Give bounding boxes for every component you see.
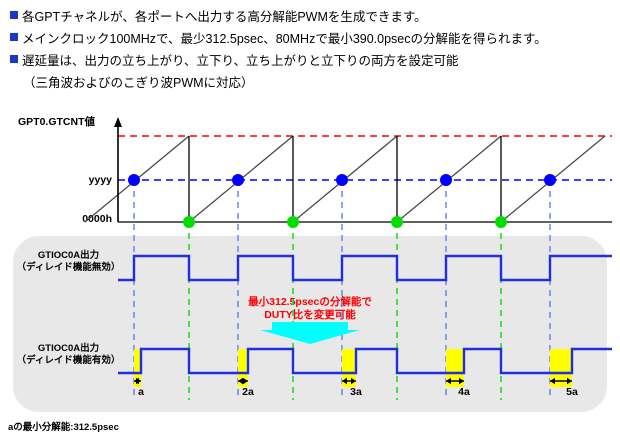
waveform-delay-enabled (118, 349, 612, 373)
waveform-delay-disabled (118, 256, 612, 280)
period-match-marker (391, 216, 403, 228)
period-match-marker (495, 216, 507, 228)
compare-match-marker (544, 174, 556, 186)
period-match-marker (183, 216, 195, 228)
callout-down-arrow-icon (260, 322, 360, 344)
period-match-marker (287, 216, 299, 228)
y-axis-arrow-icon (114, 117, 122, 127)
diagram-vector-layer (0, 0, 620, 441)
compare-match-marker (128, 174, 140, 186)
compare-match-marker (232, 174, 244, 186)
slide-root: 各GPTチャネルが、各ポートへ出力する高分解能PWMを生成できます。 メインクロ… (0, 0, 620, 441)
compare-match-marker (336, 174, 348, 186)
compare-match-marker (440, 174, 452, 186)
